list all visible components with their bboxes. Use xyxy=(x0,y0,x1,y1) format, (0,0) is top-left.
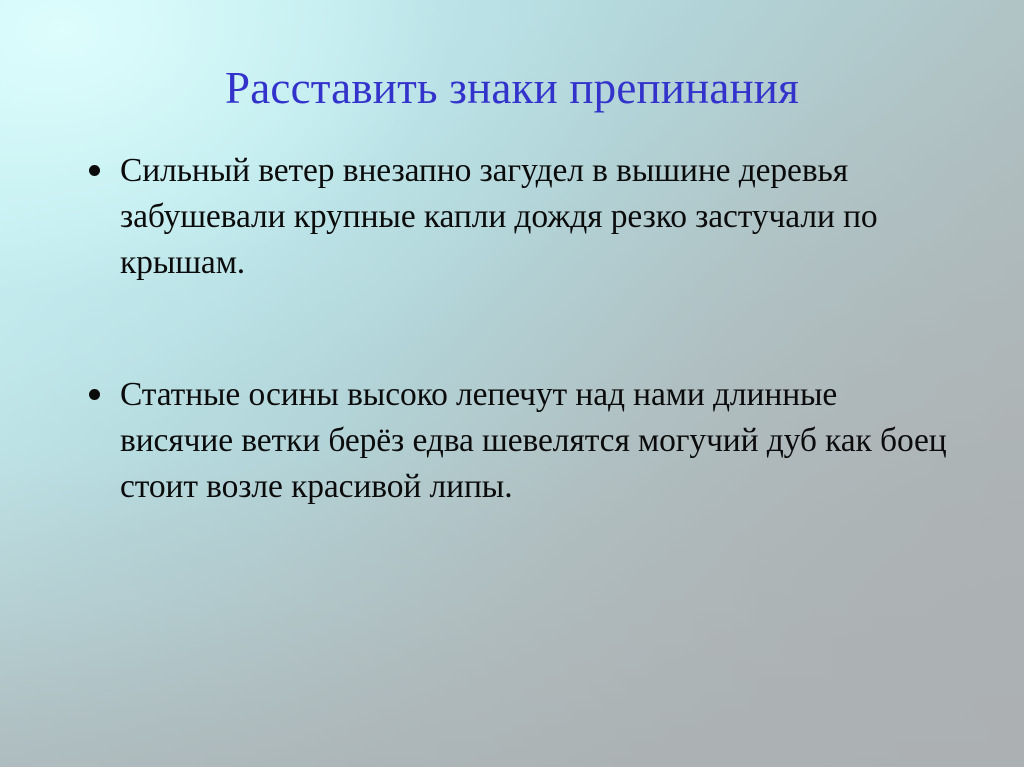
slide-body: Сильный ветер внезапно загудел в вышине … xyxy=(78,148,958,510)
bullet-item: Сильный ветер внезапно загудел в вышине … xyxy=(78,148,958,286)
slide-title: Расставить знаки препинания xyxy=(62,60,962,116)
bullet-dot-icon xyxy=(89,389,100,400)
slide-content: Расставить знаки препинания Сильный вете… xyxy=(0,0,1024,767)
presentation-slide: Расставить знаки препинания Сильный вете… xyxy=(0,0,1024,767)
bullet-item-text: Статные осины высоко лепечут над нами дл… xyxy=(120,372,958,510)
bullet-dot-icon xyxy=(89,165,100,176)
bullet-item: Статные осины высоко лепечут над нами дл… xyxy=(78,372,958,510)
bullet-item-text: Сильный ветер внезапно загудел в вышине … xyxy=(120,148,958,286)
